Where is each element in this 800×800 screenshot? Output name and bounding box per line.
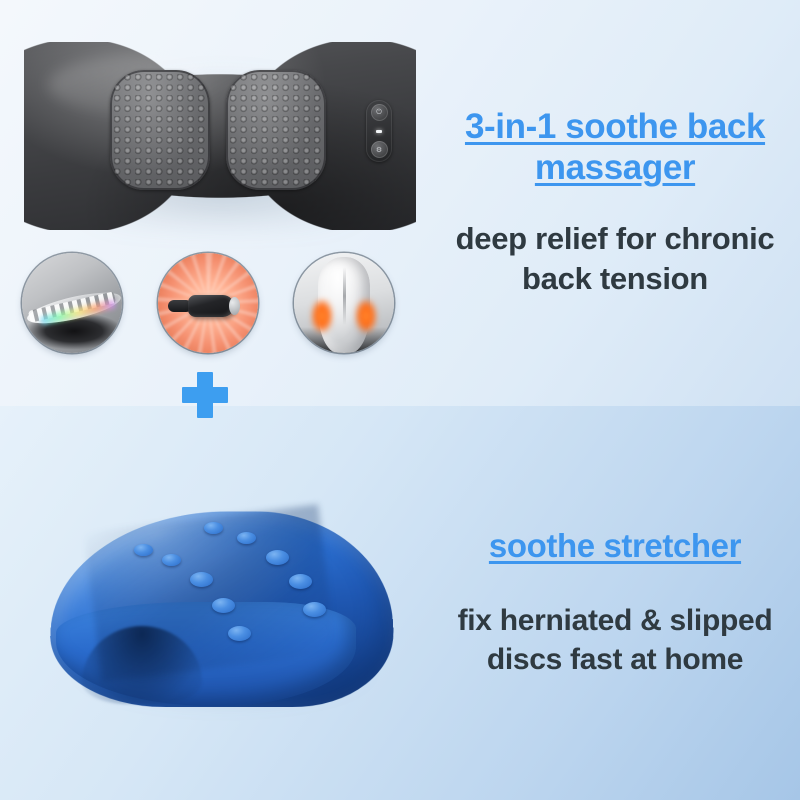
power-button-icon[interactable]: ⏻ bbox=[371, 104, 388, 121]
bottom-media-column bbox=[0, 406, 430, 800]
plus-icon bbox=[182, 372, 228, 418]
massage-nub-pad-right bbox=[226, 70, 326, 190]
thumbnail-spine-xray bbox=[22, 253, 122, 353]
node-head-icon bbox=[188, 295, 234, 317]
thumbnail-back-heat bbox=[294, 253, 394, 353]
heat-glow-left-icon bbox=[311, 299, 333, 333]
heat-glow-right-icon bbox=[355, 299, 377, 333]
bottom-subheadline: fix herniated & slipped discs fast at ho… bbox=[444, 601, 786, 679]
thumbnail-massage-node bbox=[158, 253, 258, 353]
mode-button-icon[interactable]: ⚙ bbox=[371, 141, 388, 158]
plus-icon-vertical-bar bbox=[197, 372, 213, 418]
stretcher-bump bbox=[204, 522, 223, 534]
soothe-stretcher-product-image bbox=[52, 506, 392, 721]
top-headline: 3-in-1 soothe back massager bbox=[444, 107, 786, 189]
product-advertisement: ⏻ ⚙ bbox=[0, 0, 800, 800]
indicator-led-icon bbox=[376, 130, 382, 133]
stretcher-bump bbox=[134, 544, 153, 556]
top-product-section: ⏻ ⚙ bbox=[0, 0, 800, 406]
top-media-column: ⏻ ⚙ bbox=[0, 0, 430, 406]
back-massager-product-image: ⏻ ⚙ bbox=[24, 42, 416, 230]
stretcher-bump bbox=[212, 598, 235, 613]
bottom-headline: soothe stretcher bbox=[489, 527, 741, 566]
massage-nub-pad-left bbox=[110, 70, 210, 190]
stretcher-bump bbox=[266, 550, 289, 565]
feature-thumbnail-row bbox=[22, 250, 412, 356]
stretcher-bump bbox=[289, 574, 312, 589]
stretcher-bump bbox=[228, 626, 251, 641]
stretcher-bump bbox=[303, 602, 326, 617]
top-text-column: 3-in-1 soothe back massager deep relief … bbox=[430, 0, 800, 406]
massager-control-panel[interactable]: ⏻ ⚙ bbox=[366, 100, 392, 162]
bottom-product-section: soothe stretcher fix herniated & slipped… bbox=[0, 406, 800, 800]
bottom-text-column: soothe stretcher fix herniated & slipped… bbox=[430, 406, 800, 800]
top-subheadline: deep relief for chronic back tension bbox=[444, 219, 786, 300]
spine-line-icon bbox=[343, 267, 346, 325]
node-tip-icon bbox=[229, 297, 240, 315]
stretcher-bump bbox=[237, 532, 256, 544]
stretcher-bump bbox=[190, 572, 213, 587]
stretcher-bump bbox=[162, 554, 181, 566]
